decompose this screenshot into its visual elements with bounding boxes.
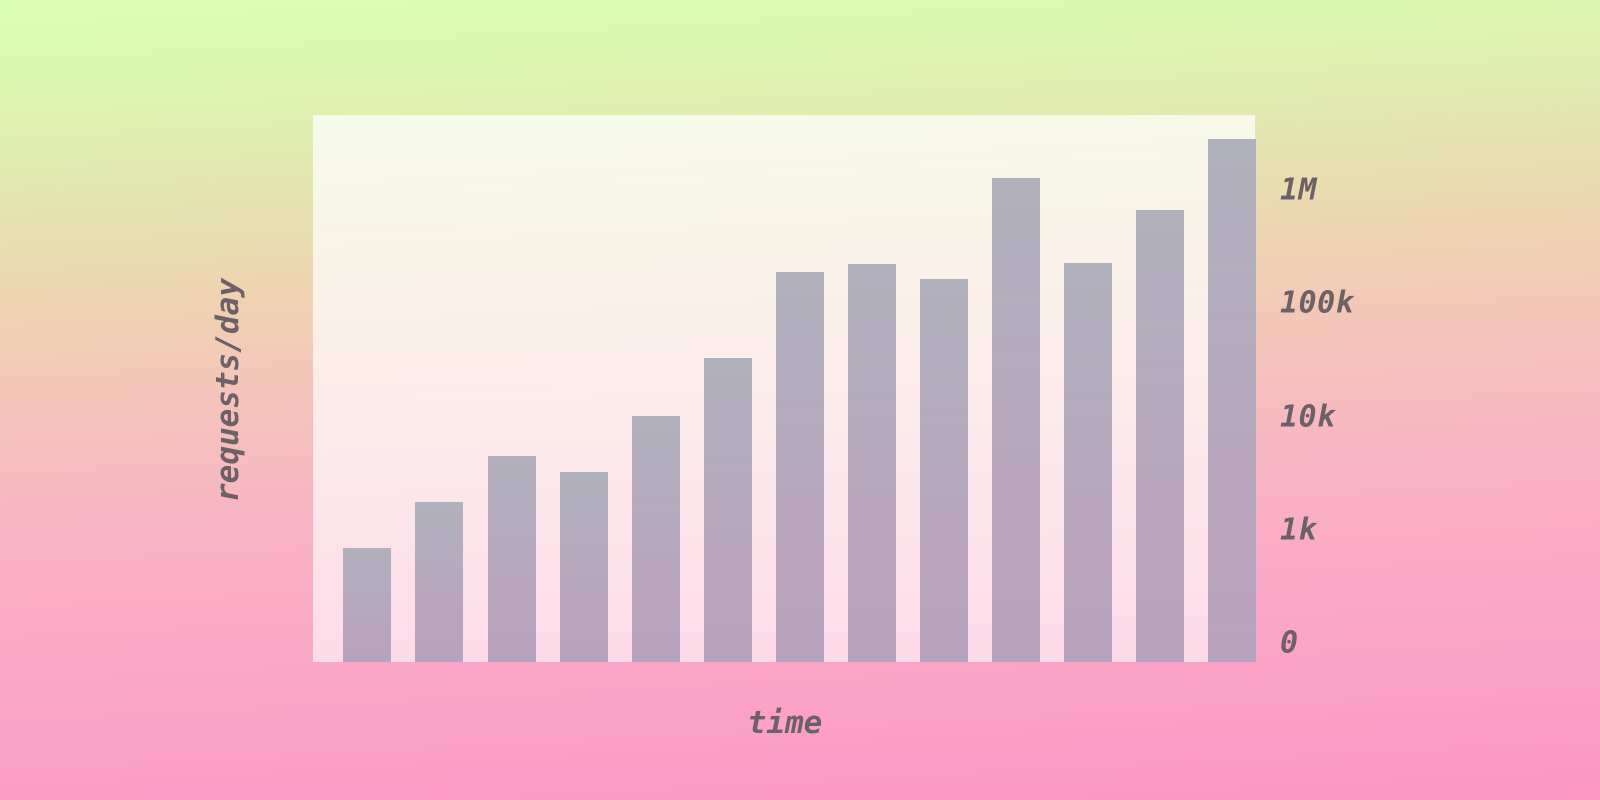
bar	[1064, 263, 1112, 662]
bar	[488, 456, 536, 662]
bar	[343, 548, 391, 662]
bar	[1208, 139, 1256, 662]
x-axis-label: time	[748, 705, 823, 741]
y-axis-tick-label: 1M	[1280, 173, 1317, 208]
bar	[776, 272, 824, 662]
y-axis-tick-label: 0	[1280, 626, 1299, 661]
bar	[560, 472, 608, 662]
y-axis-tick-label: 10k	[1280, 400, 1336, 435]
bar	[992, 178, 1040, 662]
y-axis-tick-label: 100k	[1280, 286, 1354, 321]
chart-figure: 1M100k10k1k0 requests/day time	[0, 0, 1600, 800]
plot-panel	[313, 115, 1255, 662]
y-axis-label: requests/day	[210, 278, 246, 502]
bar	[848, 264, 896, 662]
y-axis-tick-label: 1k	[1280, 513, 1317, 548]
bar	[415, 502, 463, 662]
bars-layer	[313, 115, 1255, 662]
bar	[632, 416, 680, 662]
bar	[1136, 210, 1184, 662]
bar	[920, 279, 968, 662]
bar	[704, 358, 752, 662]
